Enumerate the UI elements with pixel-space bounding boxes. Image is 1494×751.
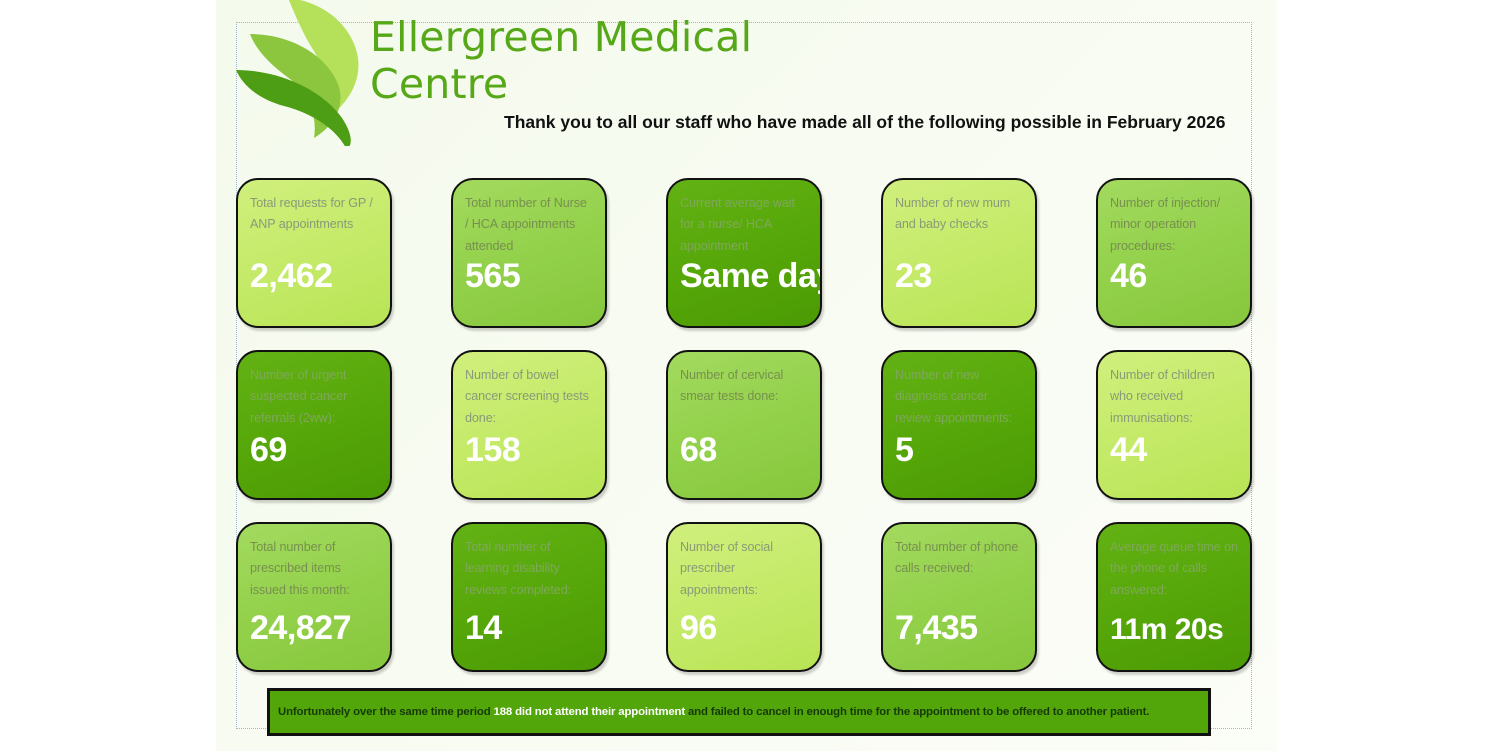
stat-card-value: 14	[465, 610, 593, 660]
stat-card-label: Number of cervical smear tests done:	[680, 365, 808, 408]
stat-card-value: 158	[465, 432, 593, 488]
stat-card-label: Total requests for GP / ANP appointments	[250, 193, 378, 236]
stat-card[interactable]: Current average wait for a nurse/ HCA ap…	[666, 178, 822, 328]
stat-card-value: 69	[250, 432, 378, 488]
dna-notice-text: Unfortunately over the same time period …	[278, 706, 1149, 718]
stat-card-label: Number of children who received immunisa…	[1110, 365, 1238, 429]
stat-card-label: Total number of learning disability revi…	[465, 537, 593, 601]
stat-card[interactable]: Number of new mum and baby checks 23	[881, 178, 1037, 328]
stat-card-label: Number of injection/ minor operation pro…	[1110, 193, 1238, 257]
stat-card-value: 44	[1110, 432, 1238, 488]
stat-card[interactable]: Number of new diagnosis cancer review ap…	[881, 350, 1037, 500]
dna-notice-highlight: 188 did not attend their appointment	[494, 706, 685, 718]
stat-card-label: Number of urgent suspected cancer referr…	[250, 365, 378, 429]
stat-card-value: 46	[1110, 258, 1238, 316]
stat-card-value: 11m 20s	[1110, 614, 1238, 660]
stat-card[interactable]: Total number of Nurse / HCA appointments…	[451, 178, 607, 328]
stat-card-value: Same day	[680, 258, 808, 316]
stats-row-1: Total requests for GP / ANP appointments…	[236, 178, 1252, 328]
stat-card-value: 5	[895, 432, 1023, 488]
stat-card-value: 96	[680, 610, 808, 660]
stat-card[interactable]: Average queue time on the phone of calls…	[1096, 522, 1252, 672]
stat-card-label: Number of new mum and baby checks	[895, 193, 1023, 236]
stat-card-label: Current average wait for a nurse/ HCA ap…	[680, 193, 808, 257]
stat-card[interactable]: Number of injection/ minor operation pro…	[1096, 178, 1252, 328]
stat-card-label: Number of new diagnosis cancer review ap…	[895, 365, 1023, 429]
brand-title-line1: Ellergreen Medical	[370, 14, 770, 61]
stat-card[interactable]: Number of children who received immunisa…	[1096, 350, 1252, 500]
stat-card-value: 2,462	[250, 258, 378, 316]
stat-card[interactable]: Total number of phone calls received: 7,…	[881, 522, 1037, 672]
stat-card-label: Number of social prescriber appointments…	[680, 537, 808, 601]
stat-card[interactable]: Total number of prescribed items issued …	[236, 522, 392, 672]
stat-card-value: 23	[895, 258, 1023, 316]
stat-card-label: Number of bowel cancer screening tests d…	[465, 365, 593, 429]
stat-card-label: Total number of Nurse / HCA appointments…	[465, 193, 593, 257]
stat-card-label: Average queue time on the phone of calls…	[1110, 537, 1238, 601]
dna-notice-suffix: and failed to cancel in enough time for …	[685, 706, 1149, 718]
thank-you-message: Thank you to all our staff who have made…	[504, 112, 1244, 133]
stat-card[interactable]: Number of urgent suspected cancer referr…	[236, 350, 392, 500]
stats-row-3: Total number of prescribed items issued …	[236, 522, 1252, 672]
dna-notice-banner: Unfortunately over the same time period …	[267, 688, 1211, 736]
slide-header: Ellergreen Medical Centre Thank you to a…	[236, 0, 1252, 160]
stat-card-value: 7,435	[895, 610, 1023, 660]
stat-card-value: 24,827	[250, 610, 378, 660]
stat-card[interactable]: Total requests for GP / ANP appointments…	[236, 178, 392, 328]
slide-root: Ellergreen Medical Centre Thank you to a…	[0, 0, 1494, 751]
stat-card[interactable]: Number of social prescriber appointments…	[666, 522, 822, 672]
stat-card-label: Total number of phone calls received:	[895, 537, 1023, 580]
stat-card-label: Total number of prescribed items issued …	[250, 537, 378, 601]
stat-card[interactable]: Number of bowel cancer screening tests d…	[451, 350, 607, 500]
stat-card-value: 565	[465, 258, 593, 316]
three-leaf-logo-icon	[236, 0, 366, 146]
stats-card-grid: Total requests for GP / ANP appointments…	[236, 178, 1252, 678]
brand-title-line2: Centre	[370, 61, 770, 108]
stat-card-value: 68	[680, 432, 808, 488]
dna-notice-prefix: Unfortunately over the same time period	[278, 706, 494, 718]
stat-card[interactable]: Number of cervical smear tests done: 68	[666, 350, 822, 500]
stat-card[interactable]: Total number of learning disability revi…	[451, 522, 607, 672]
stats-row-2: Number of urgent suspected cancer referr…	[236, 350, 1252, 500]
brand-title: Ellergreen Medical Centre	[370, 14, 770, 108]
